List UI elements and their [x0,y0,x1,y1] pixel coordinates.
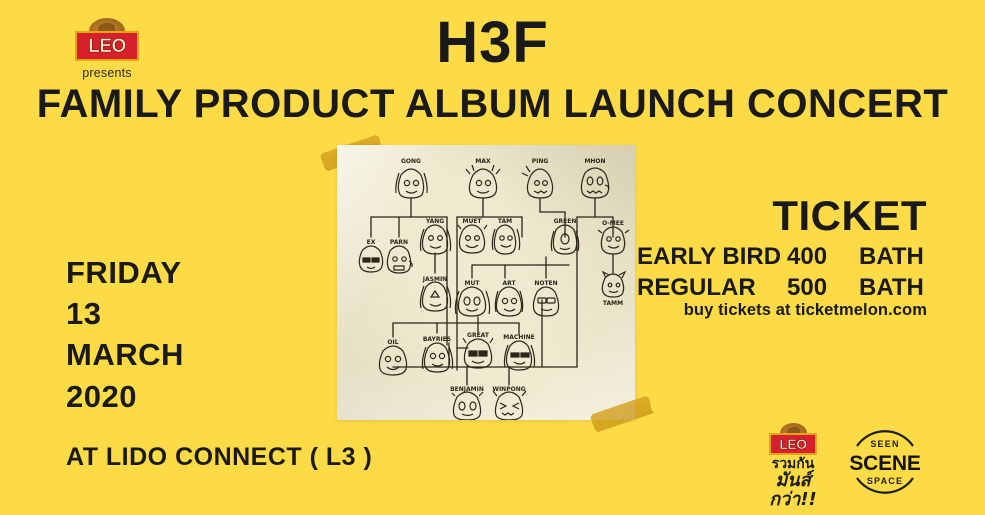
tree-node-yang: YANG [420,218,450,254]
ticket-tier-list: EARLY BIRD 400 BATH REGULAR 500 BATH [637,242,927,303]
svg-text:MUET: MUET [462,218,482,225]
tier-name: EARLY BIRD [637,242,787,273]
svg-text:MAX: MAX [475,158,491,165]
svg-text:YANG: YANG [425,218,444,225]
event-venue: AT LIDO CONNECT ( L3 ) [66,443,372,472]
sponsor-leo-block: LEO รวมกัน มันส์กว่า!! [752,423,834,510]
tree-node-winpong: WINPONG [492,386,526,420]
tier-name: REGULAR [637,273,787,304]
tree-node-mhon: MHON [581,158,609,198]
svg-text:NOTEN: NOTEN [534,280,557,287]
ticket-heading: TICKET [772,195,927,237]
tree-node-art: ART [495,280,522,316]
svg-text:PARN: PARN [390,239,408,246]
tree-node-mut: MUT [455,280,489,316]
tree-node-gong: GONG [396,158,427,198]
event-day-number: 13 [66,293,184,334]
leo-logo-icon: LEO [769,423,817,456]
tree-node-benjamin: BENJAMIN [450,386,484,420]
event-year: 2020 [66,376,184,417]
tree-node-jasmin: JASMIN [420,276,450,311]
svg-text:GREEN: GREEN [554,218,577,225]
tree-node-max: MAX [466,158,500,198]
leo-wordmark-box: LEO [769,433,817,455]
tree-node-muet: MUET [458,218,487,253]
tier-price: 500 [787,273,859,304]
sponsor-scene-logo: SEEN SCENE SPACE [843,420,927,504]
svg-text:O-MEE: O-MEE [602,220,624,227]
event-date-block: FRIDAY 13 MARCH 2020 [66,252,184,417]
svg-text:BAYRIES: BAYRIES [423,336,451,343]
event-month: MARCH [66,334,184,375]
tier-currency: BATH [859,273,927,304]
tree-node-noten: NOTEN [533,280,558,316]
ticket-purchase-note[interactable]: buy tickets at ticketmelon.com [684,301,927,320]
svg-text:GREAT: GREAT [467,332,490,339]
tree-node-ex: EX [359,239,382,272]
svg-text:MACHINE: MACHINE [503,334,534,341]
svg-text:OIL: OIL [387,339,398,346]
svg-text:TAMM: TAMM [603,300,623,307]
svg-text:TAM: TAM [498,218,512,225]
tree-node-machine: MACHINE [503,334,534,370]
event-day-name: FRIDAY [66,252,184,293]
tree-node-tamm: TAMM [602,272,625,307]
scene-logo-top: SEEN [870,439,899,449]
scene-logo-middle: SCENE [849,452,921,475]
svg-text:MUT: MUT [465,280,481,287]
scene-logo-bottom: SPACE [867,476,903,486]
ticket-tier-row: REGULAR 500 BATH [637,273,927,304]
family-tree-artwork: GONG MAX PING [337,145,635,420]
tier-currency: BATH [859,242,927,273]
svg-text:ART: ART [502,280,516,287]
concert-poster: LEO presents H3F FAMILY PRODUCT ALBUM LA… [0,0,985,515]
svg-text:PING: PING [532,158,549,165]
tier-price: 400 [787,242,859,273]
tree-node-great: GREAT [463,332,493,368]
svg-text:EX: EX [367,239,376,246]
tree-node-oil: OIL [379,339,406,375]
ticket-tier-row: EARLY BIRD 400 BATH [637,242,927,273]
band-title: H3F [0,14,985,72]
tree-node-parn: PARN [387,239,412,273]
poster-subtitle: FAMILY PRODUCT ALBUM LAUNCH CONCERT [0,84,985,124]
svg-text:GONG: GONG [401,158,421,165]
tree-node-tam: TAM [492,218,519,254]
tree-node-ping: PING [522,158,553,198]
leo-wordmark: LEO [779,437,806,451]
family-tree-drawing: GONG MAX PING [337,145,635,420]
leo-tagline-line2: มันส์กว่า!! [752,472,834,510]
svg-text:MHON: MHON [584,158,605,165]
